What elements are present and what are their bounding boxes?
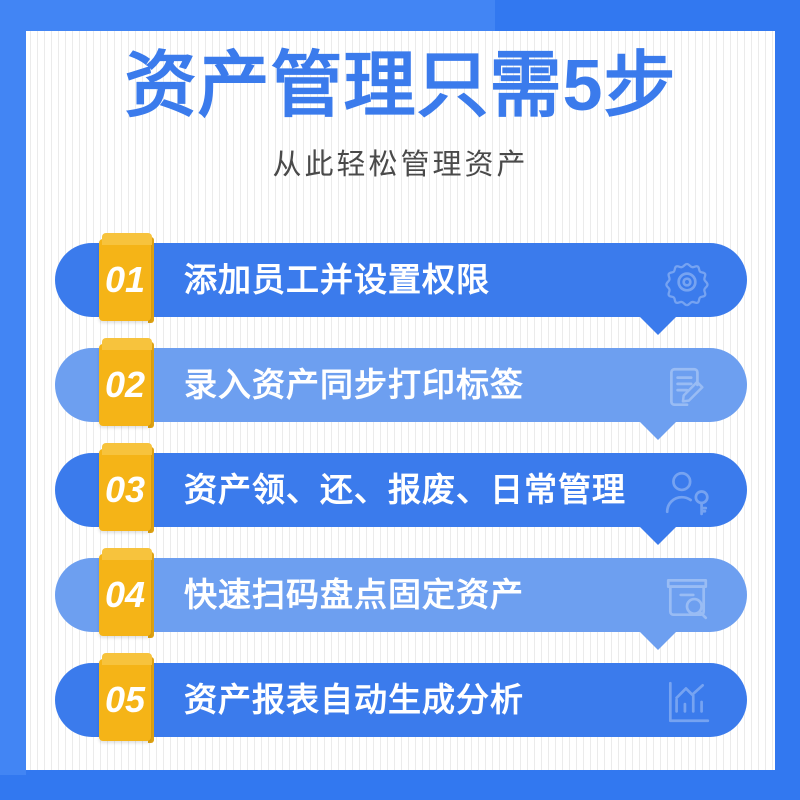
poster-header: 资产管理只需5步 从此轻松管理资产 [26, 31, 775, 183]
step-badge: 03 [99, 443, 155, 535]
step-number: 01 [99, 239, 151, 321]
poster-root: 资产管理只需5步 从此轻松管理资产 01 添加员工并设置权限 [0, 0, 800, 800]
step-label: 添加员工并设置权限 [184, 243, 490, 317]
step-number: 02 [99, 344, 151, 426]
page-subtitle: 从此轻松管理资产 [26, 125, 775, 183]
page-title: 资产管理只需5步 [26, 31, 775, 125]
step-bar-tail [636, 418, 680, 440]
step-label: 录入资产同步打印标签 [184, 348, 524, 422]
step-badge: 01 [99, 233, 155, 325]
frame-highlight-top [0, 0, 495, 31]
step-label: 资产报表自动生成分析 [184, 663, 524, 737]
step-bar-tail [636, 523, 680, 545]
step-number: 05 [99, 659, 151, 741]
step-number: 04 [99, 554, 151, 636]
document-edit-icon [662, 362, 712, 412]
list-item[interactable]: 02 录入资产同步打印标签 [26, 338, 775, 443]
list-item[interactable]: 05 资产报表自动生成分析 [26, 653, 775, 758]
step-label: 快速扫码盘点固定资产 [184, 558, 524, 632]
user-key-icon [662, 467, 712, 517]
bar-chart-icon [662, 677, 712, 727]
list-item[interactable]: 01 添加员工并设置权限 [26, 233, 775, 338]
step-badge: 02 [99, 338, 155, 430]
step-badge: 05 [99, 653, 155, 745]
step-number: 03 [99, 449, 151, 531]
list-item[interactable]: 03 资产领、还、报废、日常管理 [26, 443, 775, 548]
gear-icon [662, 257, 712, 307]
step-bar-tail [636, 313, 680, 335]
step-badge: 04 [99, 548, 155, 640]
step-label: 资产领、还、报废、日常管理 [184, 453, 626, 527]
step-bar-tail [636, 628, 680, 650]
frame-highlight-left [0, 0, 26, 775]
steps-list: 01 添加员工并设置权限 [26, 233, 775, 758]
box-search-icon [662, 572, 712, 622]
list-item[interactable]: 04 快速扫码盘点固定资产 [26, 548, 775, 653]
poster-card: 资产管理只需5步 从此轻松管理资产 01 添加员工并设置权限 [26, 31, 775, 770]
